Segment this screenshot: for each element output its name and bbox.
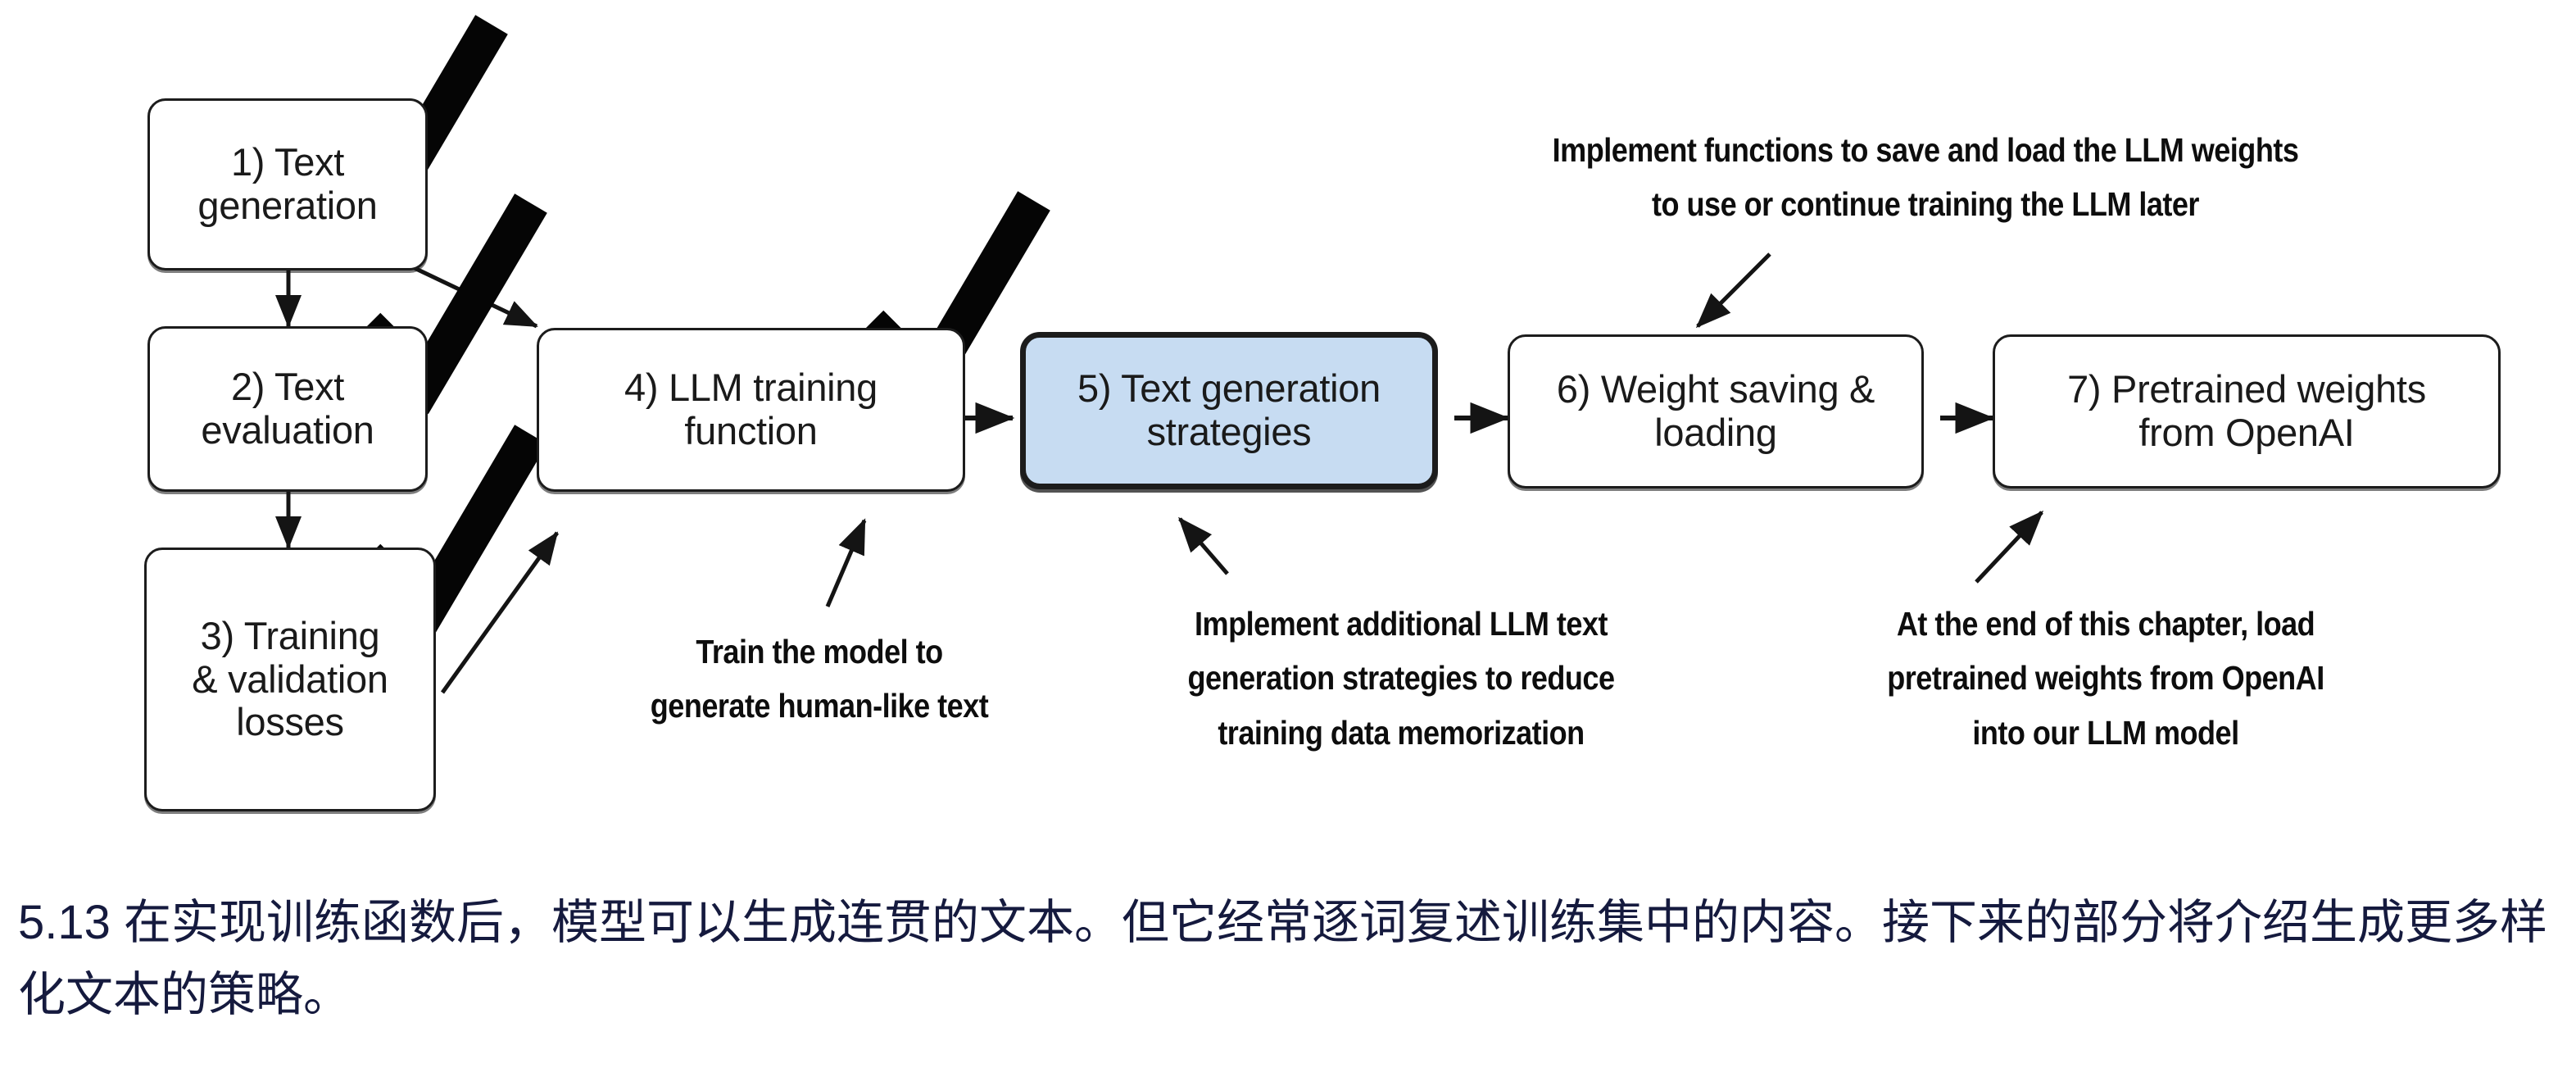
node-pretrained-weights-openai[interactable]: 7) Pretrained weights from OpenAI	[1993, 334, 2501, 489]
node-label: 4) LLM training function	[611, 366, 891, 452]
leader-a6-to-n6	[1698, 254, 1770, 326]
node-label: 6) Weight saving & loading	[1544, 368, 1888, 454]
flow-diagram: 1) Text generation 2) Text evaluation 3)…	[0, 0, 2576, 861]
node-label: 3) Training & validation losses	[179, 615, 401, 744]
annotation-generation-strategies: Implement additional LLM text generation…	[1120, 597, 1682, 760]
node-text-evaluation[interactable]: 2) Text evaluation	[147, 326, 428, 492]
node-llm-training-function[interactable]: 4) LLM training function	[537, 328, 965, 492]
node-training-validation-losses[interactable]: 3) Training & validation losses	[144, 548, 436, 811]
leader-a7-to-n7	[1976, 512, 2042, 582]
annotation-weight-saving: Implement functions to save and load the…	[1457, 123, 2394, 232]
annotation-load-pretrained: At the end of this chapter, load pretrai…	[1825, 597, 2387, 760]
node-label: 2) Text evaluation	[188, 366, 387, 452]
node-text-generation-strategies[interactable]: 5) Text generation strategies	[1020, 332, 1438, 489]
annotation-train-model: Train the model to generate human-like t…	[588, 625, 1050, 734]
figure-caption: 5.13 在实现训练函数后，模型可以生成连贯的文本。但它经常逐词复述训练集中的内…	[18, 887, 2561, 1031]
node-text-generation[interactable]: 1) Text generation	[147, 98, 428, 270]
leader-a4-to-n4	[828, 520, 864, 607]
node-weight-saving-loading[interactable]: 6) Weight saving & loading	[1508, 334, 1924, 489]
node-label: 1) Text generation	[184, 141, 390, 227]
node-label: 7) Pretrained weights from OpenAI	[2054, 368, 2439, 454]
leader-a5-to-n5	[1180, 519, 1227, 574]
node-label: 5) Text generation strategies	[1064, 367, 1394, 453]
